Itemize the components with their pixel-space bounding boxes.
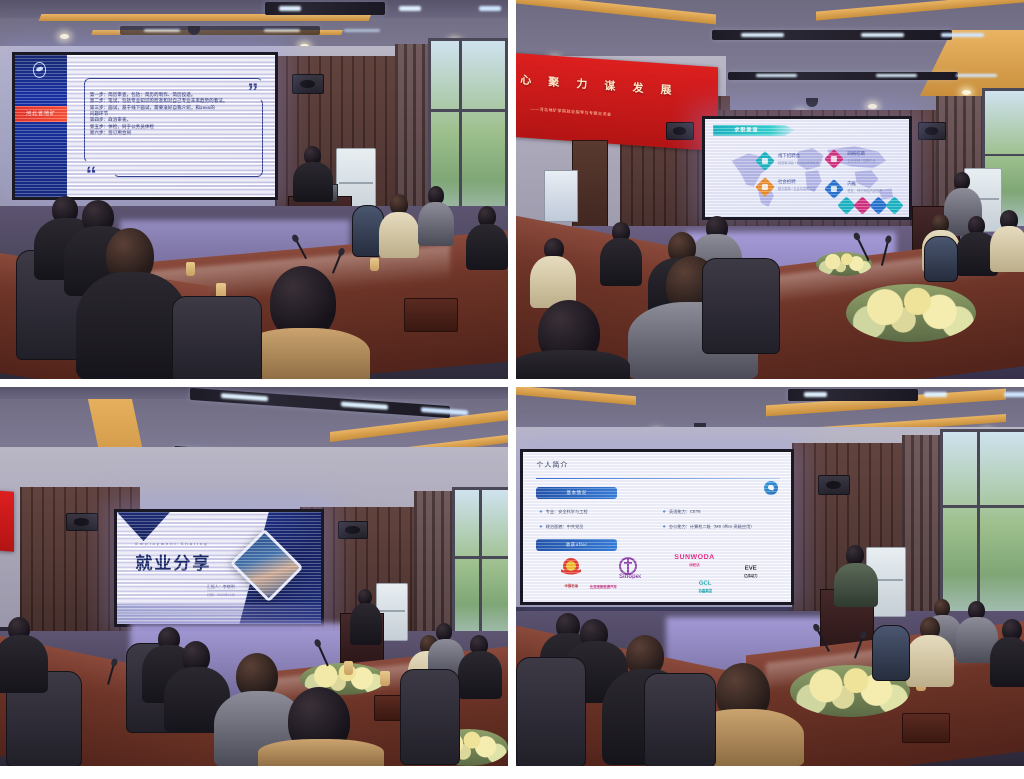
- chair: [172, 296, 262, 379]
- paper-cup: [344, 661, 353, 675]
- slide-title: 就业分享: [135, 549, 211, 574]
- slide-section-badge: 基本情况: [536, 487, 616, 499]
- logo-caption: 比亚迪新能源汽车: [555, 584, 651, 589]
- attendee-body: [466, 224, 508, 270]
- chair: [516, 657, 586, 766]
- wall-speaker: [818, 475, 850, 495]
- slide-logo-icon: [764, 481, 778, 495]
- chair: [872, 625, 910, 681]
- attendee-body: [418, 202, 454, 246]
- wall-speaker: [66, 513, 98, 531]
- slide-recruitment-steps: 河北省地矿 ” “ 第一步：简历审查，包括：简历的制作、简历投递。 第二步：笔试…: [15, 55, 275, 197]
- wall-poster: [544, 170, 578, 222]
- section-label: 基本情况: [567, 490, 587, 496]
- attendee-body: [906, 635, 954, 687]
- slide-line: 第六步：签订用合同: [90, 130, 261, 136]
- node-label: 网络招聘: [847, 151, 865, 157]
- welcome-banner: [0, 490, 14, 551]
- attendee-body: [600, 238, 642, 286]
- tissue-box: [404, 298, 458, 332]
- profile-item: 政治面貌：中共党员: [539, 524, 583, 530]
- presenter-head: [846, 545, 864, 565]
- slide-decoration: [840, 199, 901, 212]
- slide-job-channels: 求职渠道 线下招聘会 校园宣讲会 / 双选会现场投递 网络招聘 企业官网 / 招…: [705, 119, 909, 217]
- slide-header-ribbon: 求职渠道: [713, 125, 795, 136]
- attendee-body: [258, 739, 384, 766]
- node-sublabel: 企业官网 / 招聘平台: [847, 158, 875, 163]
- slide-employment-sharing: Employment Sharing 就业分享 汇报人：李晓明 日期：2023年…: [117, 512, 321, 624]
- presenter-body: [834, 563, 878, 607]
- chair: [644, 673, 716, 766]
- wall-speaker: [918, 122, 946, 140]
- wall-speaker: [292, 74, 324, 94]
- attendee-body: [516, 350, 630, 379]
- photo-bottom-right[interactable]: 个人简介 基本情况 专业：安全科学与工程 英语能力：CET6 政治面貌：中共党员…: [516, 387, 1024, 766]
- company-logo: 比亚迪新能源汽车: [555, 583, 651, 589]
- downlight-icon: [962, 90, 971, 95]
- photo-top-left[interactable]: 河北省地矿 ” “ 第一步：简历审查，包括：简历的制作、简历投递。 第二步：笔试…: [0, 0, 508, 379]
- paper-cup: [186, 262, 195, 276]
- presenter-body: [293, 162, 333, 202]
- chair: [924, 236, 958, 282]
- led-screen[interactable]: 求职渠道 线下招聘会 校园宣讲会 / 双选会现场投递 网络招聘 企业官网 / 招…: [702, 116, 912, 220]
- slide-presenter: 汇报人：李晓明: [207, 584, 235, 590]
- ceiling-light-fixture: [265, 2, 385, 15]
- node-sublabel: 校园宣讲会 / 双选会现场投递: [778, 160, 819, 165]
- downlight-icon: [60, 34, 69, 39]
- node-label: 线下招聘会: [778, 153, 800, 159]
- profile-item: 英语能力：CET6: [662, 509, 700, 515]
- led-screen[interactable]: Employment Sharing 就业分享 汇报人：李晓明 日期：2023年…: [114, 509, 324, 627]
- logo-caption: 亿纬动力: [721, 573, 780, 578]
- photo-bottom-left[interactable]: Employment Sharing 就业分享 汇报人：李晓明 日期：2023年…: [0, 387, 508, 766]
- attendee-body: [990, 226, 1024, 272]
- photo-top-right[interactable]: 心 聚 力 谋 发 展 ——河北地矿学院就业指导与专题交流会: [516, 0, 1024, 379]
- paper-cup: [380, 671, 390, 686]
- slide-title: 个人简介: [536, 460, 568, 470]
- tissue-box: [902, 713, 950, 743]
- node-label: 社会招聘: [778, 179, 796, 185]
- company-logo: SUNWODA 欣旺达: [662, 554, 726, 567]
- led-screen[interactable]: 河北省地矿 ” “ 第一步：简历审查，包括：简历的制作、简历投递。 第二步：笔试…: [12, 52, 278, 200]
- petrochina-logo-icon: [558, 557, 584, 577]
- slide-personal-profile: 个人简介 基本情况 专业：安全科学与工程 英语能力：CET6 政治面貌：中共党员…: [523, 452, 791, 602]
- company-logo: Sinopec: [603, 557, 651, 584]
- logo-caption: 协鑫集团: [673, 588, 737, 593]
- attendee-body: [0, 635, 48, 693]
- quote-open-icon: “: [86, 164, 97, 186]
- led-screen[interactable]: 个人简介 基本情况 专业：安全科学与工程 英语能力：CET6 政治面貌：中共党员…: [520, 449, 794, 605]
- company-logo: EVE 亿纬动力: [721, 566, 780, 578]
- logo-wordmark: EVE: [721, 566, 780, 572]
- wall-speaker: [666, 122, 694, 140]
- slide-badge-label: 河北省地矿: [13, 106, 69, 122]
- ceiling-light-fixture: [712, 30, 952, 40]
- attendee-body: [990, 637, 1024, 687]
- paper-cup: [370, 258, 379, 271]
- logo-caption: 欣旺达: [662, 562, 726, 567]
- slide-badge: 河北省地矿: [13, 106, 69, 122]
- flower-arrangement: [816, 252, 872, 276]
- ceiling-light-fixture: [788, 389, 918, 401]
- logo-wordmark: SUNWODA: [662, 554, 726, 561]
- node-sublabel: 猎头推荐 / 社会化招聘渠道: [778, 186, 816, 191]
- company-logo: GCL 协鑫集团: [673, 581, 737, 593]
- attendee-body: [379, 212, 419, 258]
- downlight-icon: [868, 104, 877, 109]
- logo-wordmark: GCL: [673, 581, 737, 587]
- attendee-body: [458, 651, 502, 699]
- profile-item: 办公能力：计算机二级（MS office 高级应用）: [662, 524, 754, 530]
- ceiling-light-fixture: [728, 72, 958, 80]
- section-label: 收获offer: [566, 542, 588, 548]
- slide-english-title: Employment Sharing: [135, 541, 208, 546]
- node-label: 内推: [847, 181, 856, 187]
- profile-item: 专业：安全科学与工程: [539, 509, 587, 515]
- chair: [702, 258, 780, 354]
- photo-collage: 河北省地矿 ” “ 第一步：简历审查，包括：简历的制作、简历投递。 第二步：笔试…: [0, 0, 1024, 779]
- presenter-body: [350, 603, 382, 645]
- banner-title: 心 聚 力 谋 发 展: [520, 72, 710, 101]
- slide-body-text: 第一步：简历审查，包括：简历的制作、简历投递。 第二步：笔试，包括专业知识的检查…: [90, 92, 261, 137]
- node-sublabel: 校友、师兄师姐内部推荐: [847, 188, 882, 193]
- flower-arrangement: [846, 284, 976, 342]
- svg-text:Sinopec: Sinopec: [619, 574, 641, 579]
- slide-logo-icon: [33, 62, 47, 78]
- slide-date: 日期：2023年12月: [207, 592, 235, 597]
- sinopec-logo-icon: Sinopec: [615, 557, 641, 579]
- slide-section-badge: 收获offer: [536, 539, 616, 551]
- chair: [400, 669, 460, 765]
- slide-header-label: 求职渠道: [734, 127, 758, 134]
- wall-speaker: [338, 521, 368, 539]
- ceiling-light-fixture: [120, 26, 320, 35]
